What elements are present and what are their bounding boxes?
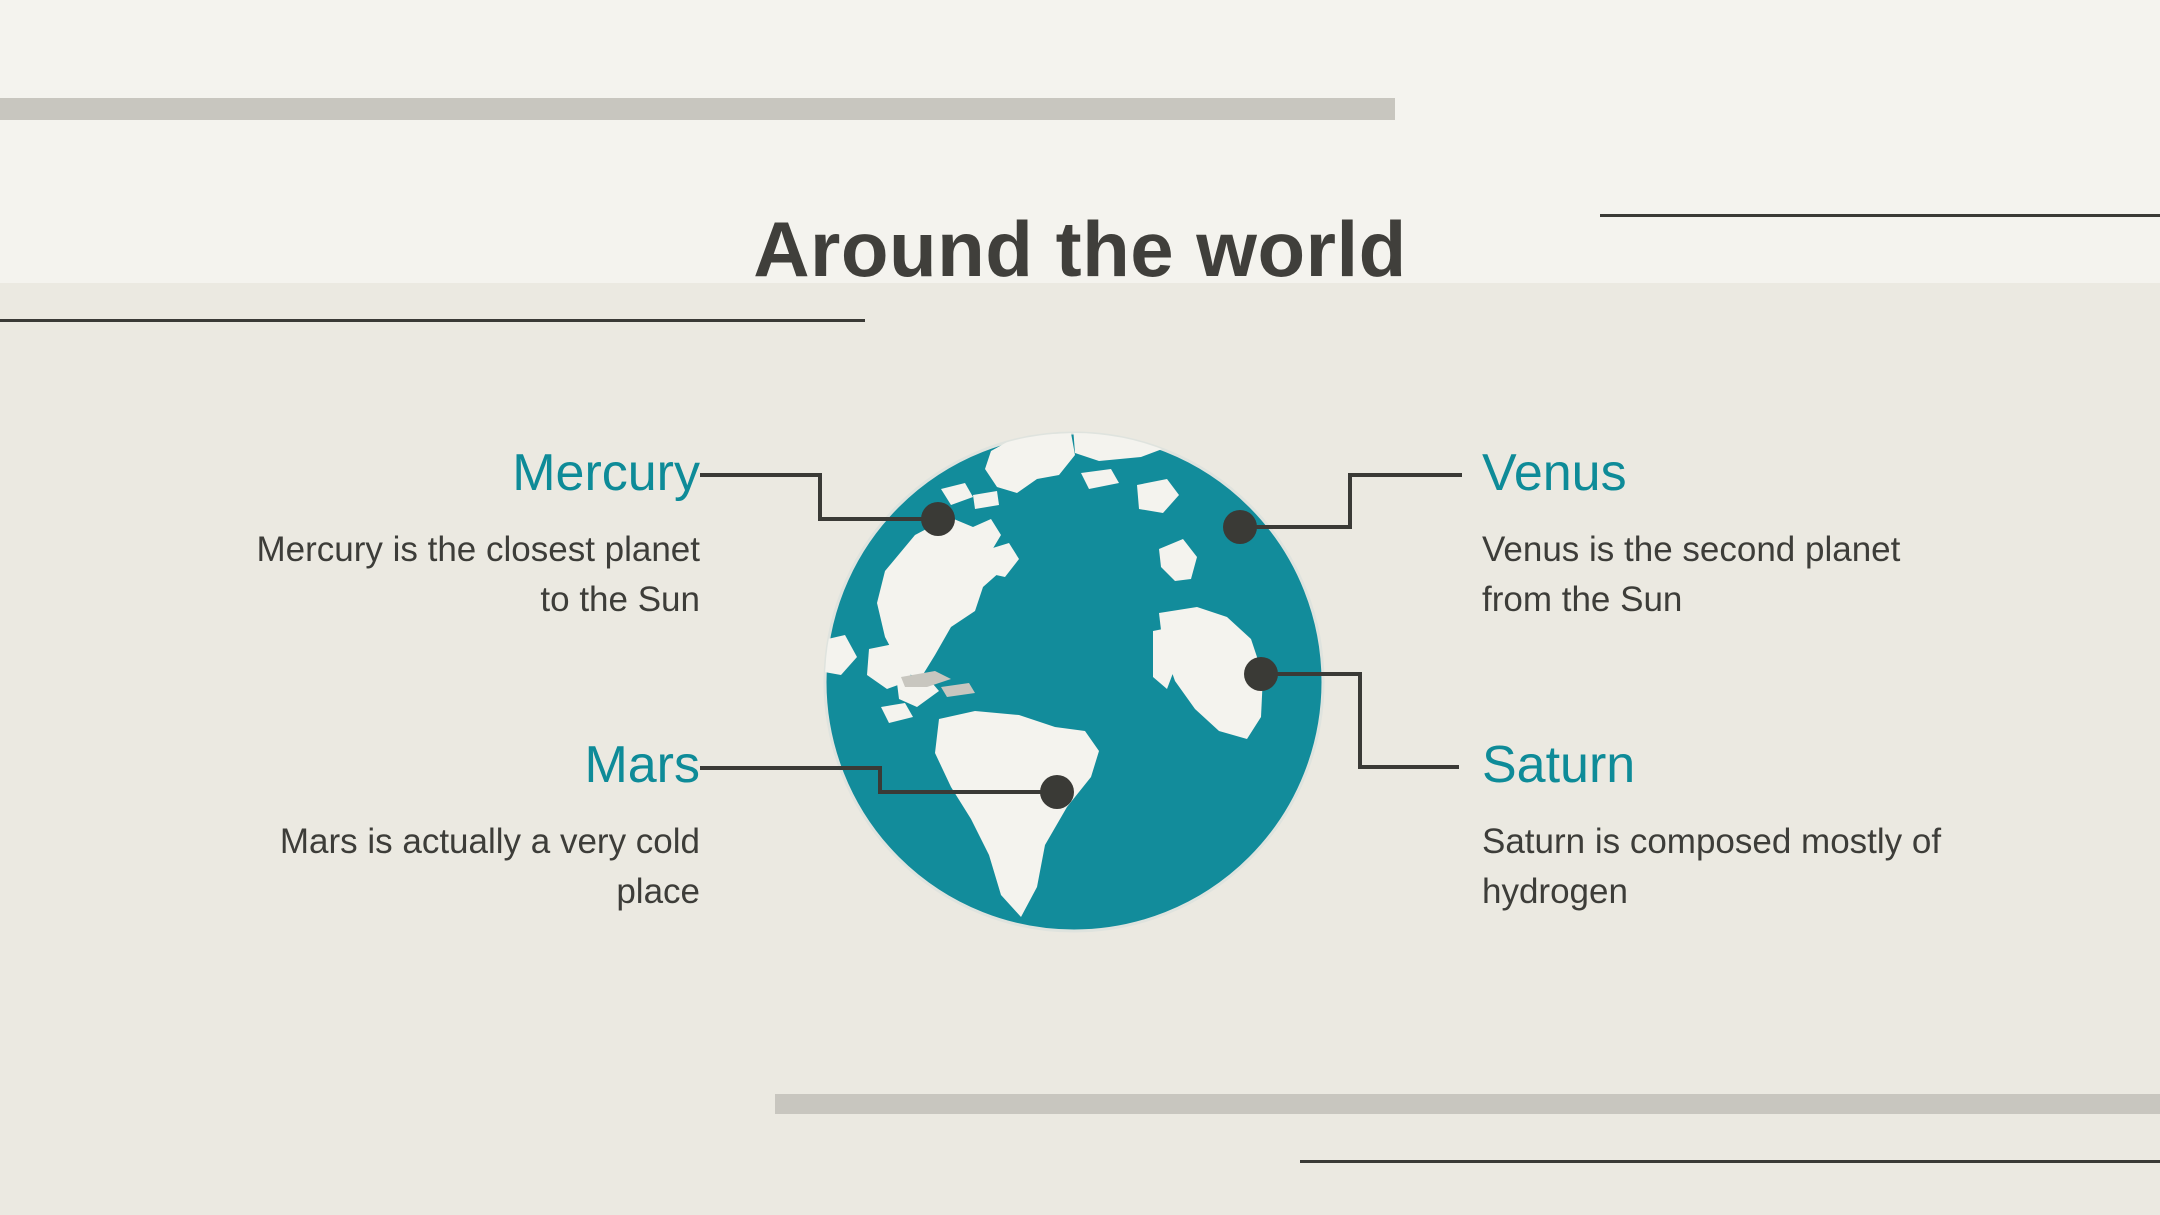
callout-mars[interactable]: Mars Mars is actually a very cold place [240, 735, 700, 917]
callout-saturn-description: Saturn is composed mostly of hydrogen [1482, 817, 1952, 917]
callout-mercury-description: Mercury is the closest planet to the Sun [240, 525, 700, 625]
callout-mercury-title: Mercury [240, 443, 700, 503]
header-accent-bar [0, 98, 1395, 120]
callout-mars-description: Mars is actually a very cold place [240, 817, 700, 917]
callout-mercury[interactable]: Mercury Mercury is the closest planet to… [240, 443, 700, 625]
globe-illustration [823, 431, 1325, 933]
header-bottom-rule [0, 319, 865, 322]
slide-canvas: Around the world [0, 0, 2160, 1215]
callout-saturn-title: Saturn [1482, 735, 1952, 795]
callout-venus[interactable]: Venus Venus is the second planet from th… [1482, 443, 1952, 625]
callout-saturn[interactable]: Saturn Saturn is composed mostly of hydr… [1482, 735, 1952, 917]
callout-venus-description: Venus is the second planet from the Sun [1482, 525, 1952, 625]
footer-rule [1300, 1160, 2160, 1163]
callout-mars-title: Mars [240, 735, 700, 795]
callout-venus-title: Venus [1482, 443, 1952, 503]
page-title: Around the world [0, 204, 2160, 294]
footer-accent-bar [775, 1094, 2160, 1114]
